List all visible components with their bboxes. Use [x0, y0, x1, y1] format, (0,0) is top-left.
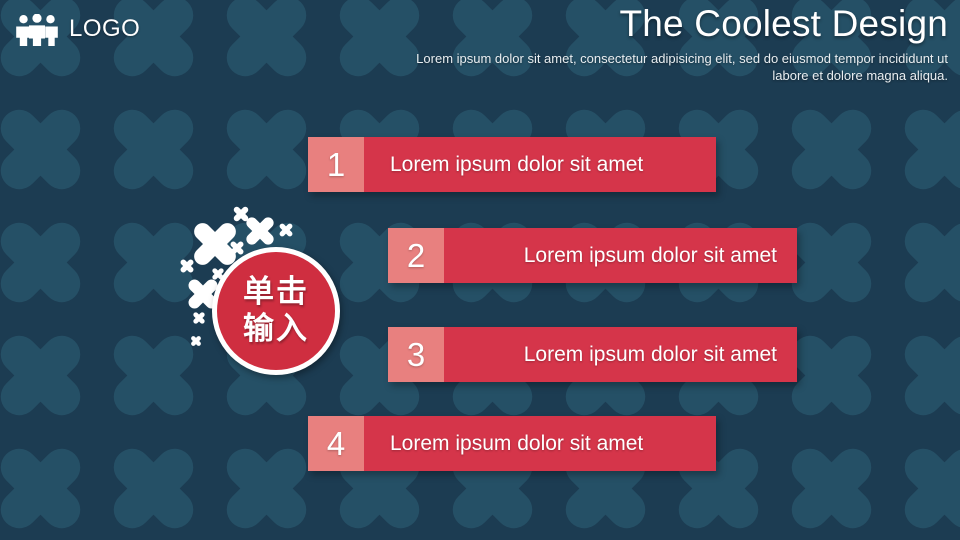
bullet-bar-list: 1 Lorem ipsum dolor sit amet 2 Lorem ips…: [0, 0, 960, 540]
badge-line-1: 单击: [243, 274, 309, 311]
bullet-label-2: Lorem ipsum dolor sit amet: [444, 228, 797, 283]
bullet-number-3: 3: [388, 327, 444, 382]
bullet-bar-2[interactable]: 2 Lorem ipsum dolor sit amet: [388, 228, 797, 283]
slide-canvas: LOGO The Coolest Design Lorem ipsum dolo…: [0, 0, 960, 540]
bullet-label-4: Lorem ipsum dolor sit amet: [364, 416, 716, 471]
bullet-number-4: 4: [308, 416, 364, 471]
bullet-bar-4[interactable]: 4 Lorem ipsum dolor sit amet: [308, 416, 716, 471]
bullet-number-2: 2: [388, 228, 444, 283]
badge-circle[interactable]: 单击 输入: [212, 247, 340, 375]
bullet-bar-1[interactable]: 1 Lorem ipsum dolor sit amet: [308, 137, 716, 192]
bullet-bar-3[interactable]: 3 Lorem ipsum dolor sit amet: [388, 327, 797, 382]
click-to-input-badge[interactable]: 单击 输入: [175, 196, 350, 386]
bullet-label-1: Lorem ipsum dolor sit amet: [364, 137, 716, 192]
bullet-number-1: 1: [308, 137, 364, 192]
badge-line-2: 输入: [243, 311, 309, 348]
bullet-label-3: Lorem ipsum dolor sit amet: [444, 327, 797, 382]
